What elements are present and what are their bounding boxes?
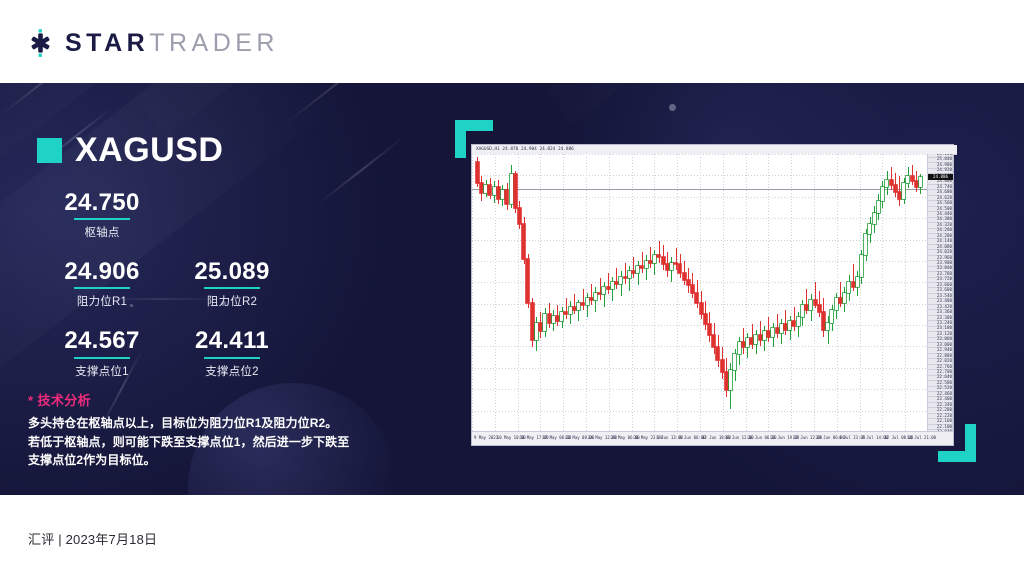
price-axis: 25.10025.04024.98024.92024.86024.80024.7… (927, 154, 953, 432)
candle-body (636, 266, 639, 273)
candle-body (535, 323, 538, 341)
current-price-marker: 24.886 (928, 174, 953, 180)
candle-body (522, 224, 525, 259)
candle-body (784, 324, 787, 329)
candle-body (615, 282, 618, 284)
candle-body (569, 307, 572, 314)
candle-wick (760, 321, 761, 346)
candle-wick (625, 263, 626, 284)
candle-body (721, 360, 724, 372)
pivot-value: 24.906 (37, 259, 167, 284)
pivot-value: 24.411 (167, 328, 297, 353)
slide-root: STARTRADER (0, 0, 1024, 576)
pivot-underline (74, 287, 130, 289)
grid-line-vertical (472, 154, 473, 432)
pivot-row: 24.906 阻力位R1 25.089 阻力位R2 (37, 259, 297, 309)
corner-bracket-bottom-right-v (965, 424, 976, 462)
candle-body (881, 187, 884, 201)
candle-body (594, 293, 597, 300)
candle-body (607, 287, 610, 289)
candle-body (488, 185, 491, 196)
candle-body (843, 293, 846, 304)
grid-line-vertical (654, 154, 655, 432)
candle-wick (633, 257, 634, 278)
candle-body (877, 201, 880, 213)
pivot-underline (74, 357, 130, 359)
time-axis: 9 May 202310 May 10:0011 May 17:0017 May… (472, 431, 953, 445)
candle-wick (583, 289, 584, 310)
candle-body (649, 261, 652, 263)
candle-wick (587, 293, 588, 318)
candle-body (564, 312, 567, 314)
pivot-label: 阻力位R1 (37, 293, 167, 309)
candle-body (687, 280, 690, 285)
candle-body (864, 234, 867, 255)
candle-wick (621, 271, 622, 296)
candle-wick (574, 294, 575, 313)
candle-body (885, 180, 888, 187)
candle-body (556, 316, 559, 321)
candle-body (746, 338, 749, 347)
candle-body (898, 192, 901, 199)
grid-line-vertical (518, 154, 519, 432)
candle-body (632, 271, 635, 273)
grid-line-vertical (563, 154, 564, 432)
candle-body (835, 298, 838, 310)
candle-wick (566, 298, 567, 319)
candle-body (733, 354, 736, 370)
pivot-value: 24.750 (37, 190, 167, 215)
candle-body (797, 317, 800, 326)
candle-body (598, 293, 601, 295)
header-bar: STARTRADER (0, 0, 1024, 83)
candle-body (919, 177, 922, 186)
technical-analysis-body: 多头持仓在枢轴点以上，目标位为阻力位R1及阻力位R2。 若低于枢轴点，则可能下跌… (28, 414, 408, 470)
candle-body (674, 263, 677, 265)
grid-line-vertical (860, 154, 861, 432)
asterisk-star-icon (26, 28, 56, 58)
grid-line-vertical (791, 154, 792, 432)
time-axis-label: 14 Jul 21:00 (907, 435, 936, 440)
candle-body (911, 176, 914, 181)
pivot-row: 24.750 枢轴点 (37, 190, 297, 240)
candle-body (826, 323, 829, 330)
pivot-underline (204, 357, 260, 359)
grid-line-vertical (540, 154, 541, 432)
candle-wick (595, 287, 596, 312)
analysis-line: 多头持仓在枢轴点以上，目标位为阻力位R1及阻力位R2。 (28, 414, 408, 433)
corner-bracket-top-left-v (455, 120, 466, 158)
candle-body (662, 257, 665, 264)
candle-body (759, 335, 762, 340)
candle-body (839, 298, 842, 303)
candle-wick (616, 268, 617, 289)
pivot-value: 24.567 (37, 328, 167, 353)
candle-body (628, 271, 631, 278)
candle-body (577, 303, 580, 310)
technical-analysis-title: * 技术分析 (28, 390, 408, 409)
chart-plot-area[interactable] (472, 154, 928, 432)
pivot-label: 支撑点位2 (167, 363, 297, 379)
candle-wick (671, 257, 672, 282)
candle-body (657, 255, 660, 257)
candle-body (890, 180, 893, 185)
candle-body (683, 273, 686, 280)
candle-body (666, 264, 669, 269)
pivot-underline (204, 287, 260, 289)
candle-body (763, 331, 766, 340)
candle-body (560, 312, 563, 321)
candle-body (868, 224, 871, 235)
candle-wick (591, 284, 592, 305)
candle-body (484, 185, 487, 193)
candle-body (670, 263, 673, 270)
background-dot (669, 104, 676, 111)
candle-body (847, 282, 850, 293)
candle-body (526, 259, 529, 303)
candle-body (691, 285, 694, 292)
candle-body (573, 307, 576, 311)
candle-wick (768, 317, 769, 342)
candle-wick (828, 316, 829, 344)
candle-body (552, 316, 555, 323)
candle-body (788, 321, 791, 330)
candle-body (742, 342, 745, 347)
footer-text: 汇评 | 2023年7月18日 (28, 529, 157, 548)
time-axis-label: 9 May 2023 (474, 435, 498, 440)
candle-body (873, 213, 876, 224)
pivot-cell-r2: 25.089 阻力位R2 (167, 259, 297, 309)
pivot-reference-line (472, 189, 928, 190)
candle-body (586, 298, 589, 305)
pivot-cell-pivot: 24.750 枢轴点 (37, 190, 167, 240)
grid-line-vertical (723, 154, 724, 432)
candle-body (902, 183, 905, 199)
candle-body (590, 298, 593, 300)
candle-body (822, 312, 825, 330)
candle-body (645, 261, 648, 268)
pivot-label: 枢轴点 (37, 224, 167, 240)
candle-body (493, 187, 496, 196)
candle-wick (604, 282, 605, 307)
candle-wick (752, 324, 753, 349)
pivot-value: 25.089 (167, 259, 297, 284)
grid-line-vertical (746, 154, 747, 432)
brand-logo: STARTRADER (26, 27, 279, 59)
candle-body (738, 342, 741, 354)
candle-body (801, 305, 804, 317)
candle-body (531, 303, 534, 340)
symbol-heading: XAGUSD (37, 133, 223, 167)
candle-wick (794, 307, 795, 332)
candle-body (814, 300, 817, 305)
candle-body (915, 181, 918, 186)
candle-body (678, 264, 681, 273)
candle-body (497, 187, 500, 199)
candle-body (539, 323, 542, 332)
candle-wick (676, 248, 677, 269)
candle-body (518, 208, 521, 224)
pivot-cell-r1: 24.906 阻力位R1 (37, 259, 167, 309)
candle-wick (612, 277, 613, 302)
candle-wick (654, 250, 655, 275)
candle-body (476, 162, 479, 183)
candle-wick (629, 266, 630, 291)
candle-body (611, 282, 614, 289)
pivot-levels: 24.750 枢轴点 24.906 阻力位R1 25.089 阻力位R2 24.… (37, 190, 297, 379)
candle-body (505, 190, 508, 204)
candle-body (754, 335, 757, 344)
candle-body (480, 183, 483, 193)
candle-body (653, 255, 656, 262)
candle-body (805, 305, 808, 310)
candle-body (792, 321, 795, 326)
brand-name-bold: STAR (65, 29, 149, 57)
candle-body (543, 314, 546, 332)
candle-body (708, 324, 711, 335)
grid-line-vertical (632, 154, 633, 432)
candle-wick (659, 241, 660, 262)
candle-body (624, 277, 627, 279)
symbol-ticker: XAGUSD (75, 133, 223, 167)
candle-body (581, 303, 584, 305)
candle-body (906, 176, 909, 183)
candle-wick (608, 273, 609, 294)
candle-wick (777, 314, 778, 339)
grid-line-vertical (905, 154, 906, 432)
candle-body (619, 277, 622, 284)
pivot-row: 24.567 支撑点位1 24.411 支撑点位2 (37, 328, 297, 378)
candle-body (501, 190, 504, 199)
candle-body (771, 328, 774, 337)
candle-body (856, 277, 859, 288)
candle-wick (642, 252, 643, 273)
pivot-label: 支撑点位1 (37, 363, 167, 379)
candle-body (852, 282, 855, 287)
candle-body (704, 314, 707, 325)
candle-body (640, 266, 643, 268)
price-chart[interactable]: XAGUSD,H1 24.870 24.904 24.824 24.886 25… (472, 145, 953, 445)
brand-name-light: TRADER (149, 29, 279, 57)
candle-wick (646, 255, 647, 280)
candle-body (602, 287, 605, 294)
candle-wick (650, 247, 651, 268)
grid-line-vertical (768, 154, 769, 432)
candle-body (514, 174, 517, 208)
candle-body (700, 303, 703, 314)
candle-body (725, 372, 728, 390)
candle-body (767, 331, 770, 336)
candle-body (750, 338, 753, 343)
grid-line-vertical (677, 154, 678, 432)
candle-body (548, 314, 551, 323)
symbol-chip-icon (37, 138, 62, 163)
candle-body (780, 324, 783, 333)
technical-analysis: * 技术分析 多头持仓在枢轴点以上，目标位为阻力位R1及阻力位R2。 若低于枢轴… (28, 390, 408, 470)
brand-wordmark: STARTRADER (65, 31, 279, 56)
pivot-cell-s1: 24.567 支撑点位1 (37, 328, 167, 378)
candle-body (716, 347, 719, 359)
pivot-label: 阻力位R2 (167, 293, 297, 309)
candle-body (860, 255, 863, 276)
candle-body (894, 185, 897, 192)
candle-body (776, 328, 779, 333)
candle-body (818, 305, 821, 312)
candle-body (712, 335, 715, 347)
pivot-cell-s2: 24.411 支撑点位2 (167, 328, 297, 378)
candle-body (809, 300, 812, 311)
candle-wick (600, 278, 601, 299)
candle-body (729, 370, 732, 389)
candle-wick (785, 310, 786, 335)
pivot-underline (74, 218, 130, 220)
analysis-line: 支撑点位2作为目标位。 (28, 451, 408, 470)
candle-wick (638, 261, 639, 286)
candle-body (510, 174, 513, 204)
candle-body (695, 293, 698, 304)
analysis-line: 若低于枢轴点，则可能下跌至支撑点位1，然后进一步下跌至 (28, 433, 408, 452)
candle-body (830, 310, 833, 322)
